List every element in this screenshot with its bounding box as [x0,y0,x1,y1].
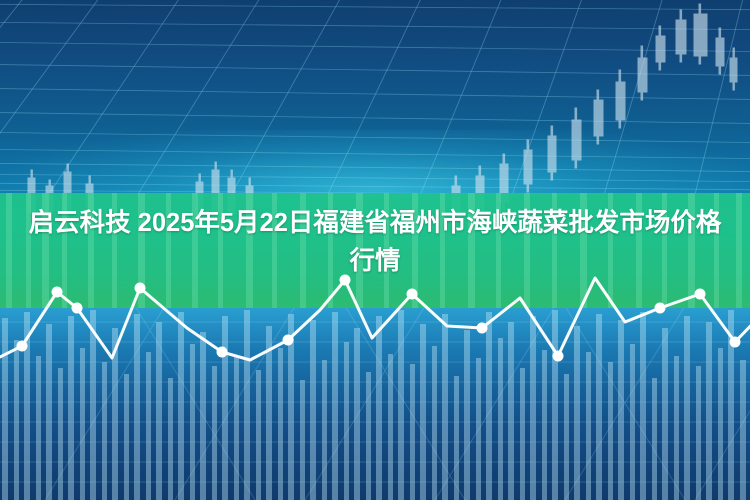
lower-diagonal-streaks [0,308,750,500]
banner-image: 启云科技 2025年5月22日福建省福州市海峡蔬菜批发市场价格 行情 [0,0,750,500]
title-line-1: 启云科技 2025年5月22日福建省福州市海峡蔬菜批发市场价格 [0,204,750,242]
banner-title: 启云科技 2025年5月22日福建省福州市海峡蔬菜批发市场价格 行情 [0,204,750,280]
lower-chart-pane [0,308,750,500]
title-line-2: 行情 [0,242,750,280]
